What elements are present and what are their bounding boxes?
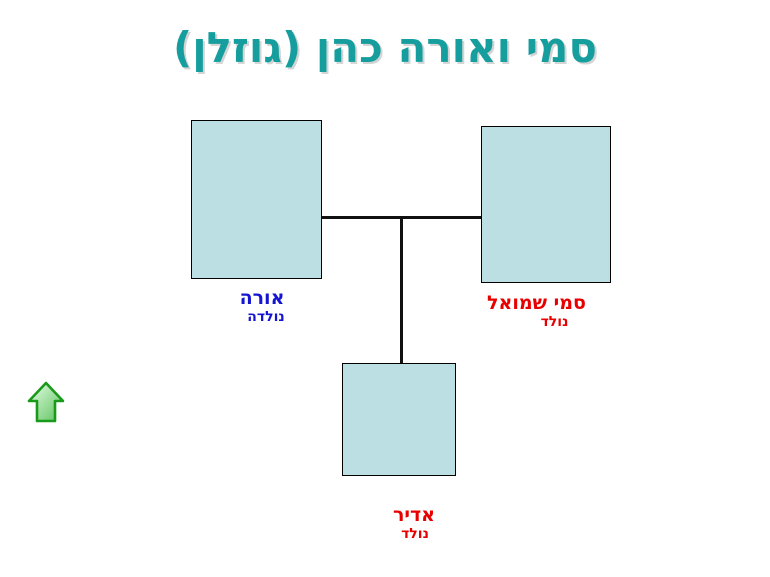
presentation-slide: סמי ואורה כהן (גוזלן) אורה נולדה סמי שמו… [0, 0, 770, 577]
page-title: סמי ואורה כהן (גוזלן) [0, 24, 770, 72]
photo-box-ora[interactable] [191, 120, 322, 279]
person-label-adir: אדיר נולד [363, 505, 463, 543]
photo-box-adir[interactable] [342, 363, 456, 476]
person-birth-label-adir: נולד [363, 527, 463, 543]
arrow-up-icon[interactable] [26, 380, 66, 425]
person-birth-label-sami: נולד [468, 315, 599, 331]
child-connector-line [400, 216, 403, 364]
person-name-ora: אורה [192, 288, 320, 309]
back-navigation-button[interactable] [26, 380, 66, 425]
person-label-ora: אורה נולדה [192, 288, 320, 326]
photo-box-sami[interactable] [481, 126, 611, 283]
person-birth-label-ora: נולדה [192, 310, 320, 326]
person-name-adir: אדיר [363, 505, 463, 526]
person-name-sami: סמי שמואל [468, 293, 599, 314]
person-label-sami: סמי שמואל נולד [468, 293, 599, 331]
